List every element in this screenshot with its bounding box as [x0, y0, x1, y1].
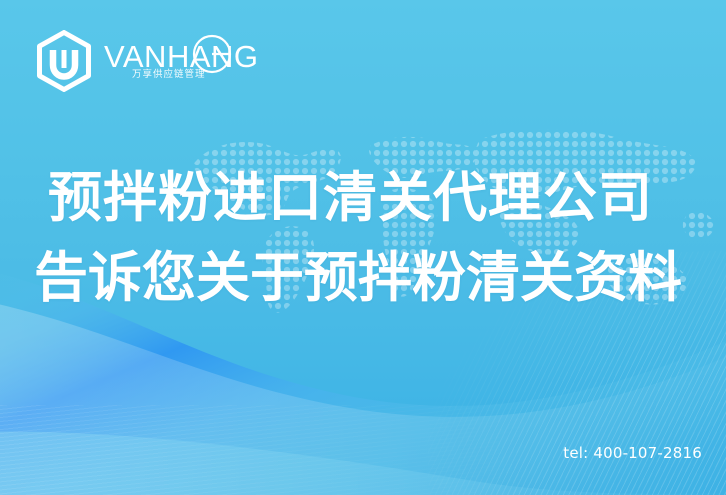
brand-subtitle: 万享供应链管理 — [132, 66, 206, 80]
hexagon-u-logo-icon — [34, 30, 94, 92]
contact-telephone: tel: 400-107-2816 — [563, 444, 702, 462]
brand-logo[interactable]: VANHANG 万享供应链管理 — [34, 30, 229, 92]
headline-line-2: 告诉您关于预拌粉清关资料 — [34, 238, 688, 318]
headline-block: 预拌粉进口清关代理公司 告诉您关于预拌粉清关资料 — [48, 158, 688, 318]
headline-line-1: 预拌粉进口清关代理公司 — [48, 158, 688, 238]
promo-banner: VANHANG 万享供应链管理 预拌粉进口清关代理公司 告诉您关于预拌粉清关资料… — [0, 0, 726, 495]
diagonal-line-texture-secondary-icon — [0, 405, 560, 495]
brand-wordmark-group: VANHANG 万享供应链管理 — [104, 35, 229, 87]
